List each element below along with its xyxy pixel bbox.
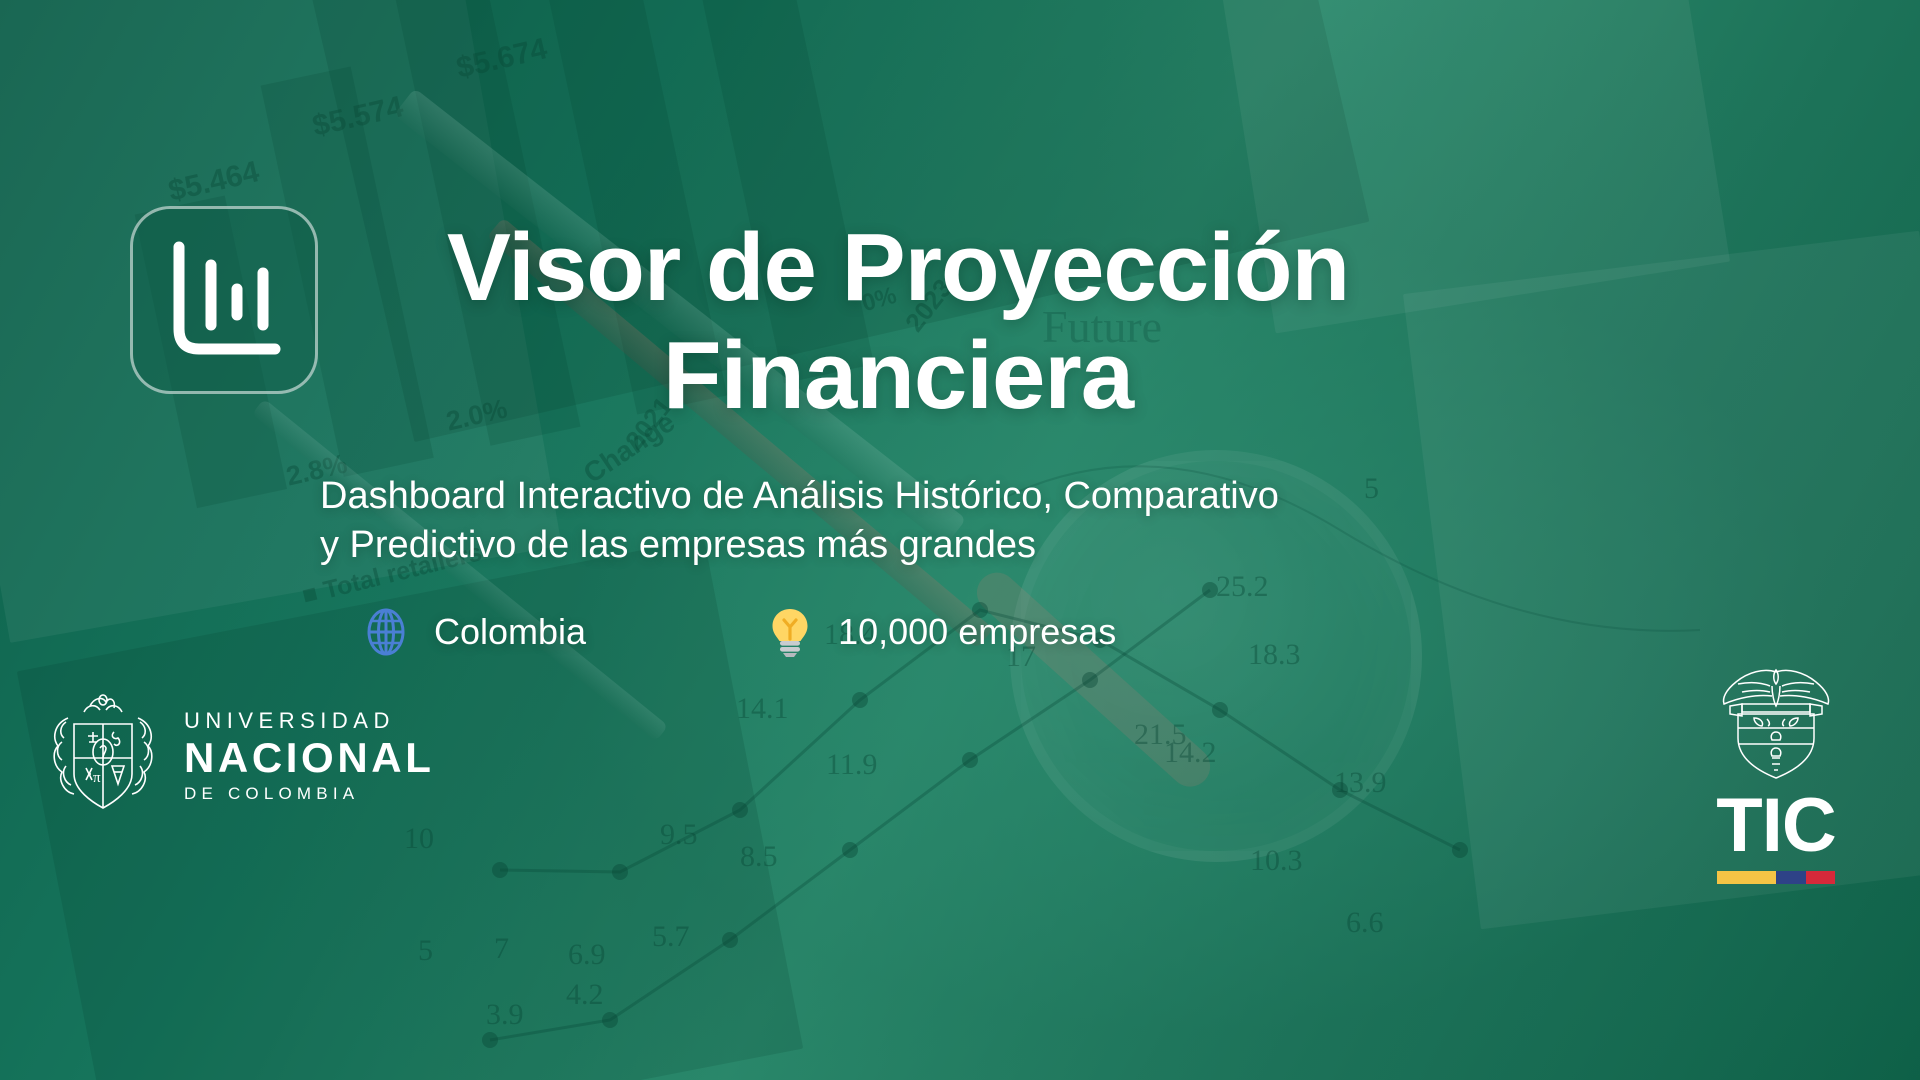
badge-country-label: Colombia [434,611,586,653]
lightbulb-icon [766,606,814,658]
poster-canvas: $5.464 $5.574 $5.674 2.8% 2.0% 0% 2021 2… [0,0,1920,1080]
title-line-2: Financiera [348,322,1448,430]
title-line-1: Visor de Proyección [348,214,1448,322]
subtitle-line-1: Dashboard Interactivo de Análisis Histór… [320,472,1340,521]
subtitle-line-2: y Predictivo de las empresas más grandes [320,521,1340,570]
university-line-2: NACIONAL [184,737,434,779]
university-logo: π UNIVERSIDAD NACIONAL DE COLOMBIA [44,690,434,822]
flag-stripe-yellow [1717,871,1776,884]
colombia-flag-bar [1717,871,1835,884]
flag-stripe-blue [1776,871,1806,884]
university-line-3: DE COLOMBIA [184,785,434,802]
colombia-coat-of-arms-icon [1712,664,1840,788]
flag-stripe-red [1806,871,1836,884]
svg-text:π: π [93,770,101,786]
poster-content: Visor de Proyección Financiera Dashboard… [0,0,1920,1080]
app-icon-tile [130,206,318,394]
page-title: Visor de Proyección Financiera [348,214,1448,429]
tic-wordmark: TIC [1716,790,1835,862]
badge-companies-label: 10,000 empresas [838,611,1116,653]
un-crest-icon: π [44,690,162,822]
badge-companies: 10,000 empresas [766,606,1116,658]
globe-icon [362,606,410,658]
university-line-1: UNIVERSIDAD [184,710,434,732]
page-subtitle: Dashboard Interactivo de Análisis Histór… [320,472,1340,571]
university-logo-text: UNIVERSIDAD NACIONAL DE COLOMBIA [184,710,434,802]
tic-logo: TIC [1680,664,1872,884]
badge-country: Colombia [362,606,586,658]
chart-app-icon [133,209,315,391]
badge-row: Colombia 10,000 empresas [362,606,1116,658]
